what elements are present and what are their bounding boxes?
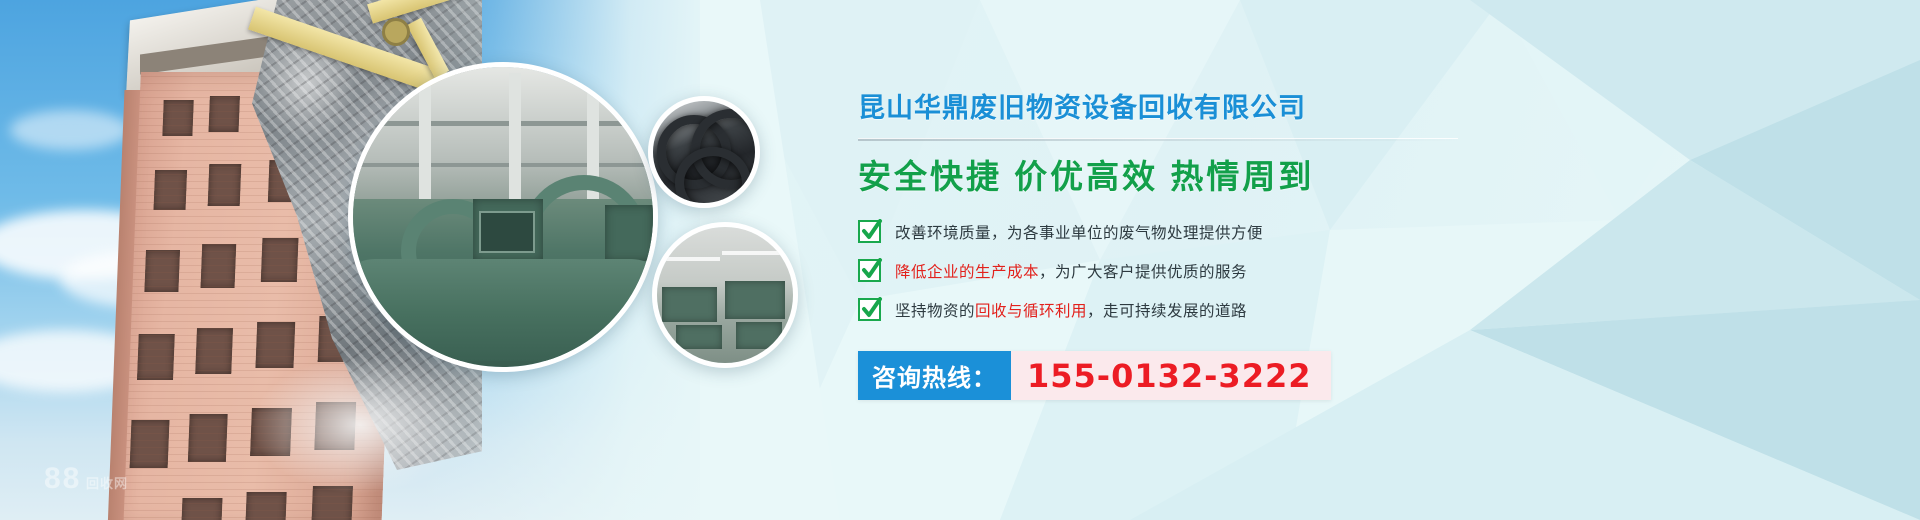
text-lead: 改善环境质量，为各事业单位的废气物处理提供方便 bbox=[895, 225, 1263, 242]
watermark: 88 回收网 bbox=[44, 462, 128, 496]
list-item-text: 改善环境质量，为各事业单位的废气物处理提供方便 bbox=[895, 221, 1263, 243]
check-icon bbox=[858, 220, 881, 243]
list-item-text: 坚持物资的回收与循环利用，走可持续发展的道路 bbox=[895, 299, 1247, 321]
feature-list: 改善环境质量，为各事业单位的废气物处理提供方便 降低企业的生产成本，为广大客户提… bbox=[858, 220, 1558, 321]
circle-image-workshop bbox=[652, 222, 798, 368]
text-highlight: 降低企业的生产成本 bbox=[895, 264, 1039, 281]
check-icon bbox=[858, 259, 881, 282]
text-tail: ，为广大客户提供优质的服务 bbox=[1039, 264, 1247, 281]
list-item: 改善环境质量，为各事业单位的废气物处理提供方便 bbox=[858, 220, 1558, 243]
hotline-number[interactable]: 155-0132-3222 bbox=[1011, 351, 1331, 400]
list-item-text: 降低企业的生产成本，为广大客户提供优质的服务 bbox=[895, 260, 1247, 282]
list-item: 坚持物资的回收与循环利用，走可持续发展的道路 bbox=[858, 298, 1558, 321]
circle-image-steel-coils bbox=[648, 96, 760, 208]
cloud bbox=[10, 110, 130, 150]
hotline-label: 咨询热线： bbox=[858, 351, 1011, 400]
steel-coils bbox=[653, 101, 755, 203]
list-item: 降低企业的生产成本，为广大客户提供优质的服务 bbox=[858, 259, 1558, 282]
check-icon bbox=[858, 298, 881, 321]
circle-image-chiller bbox=[348, 62, 658, 372]
company-name: 昆山华鼎废旧物资设备回收有限公司 bbox=[858, 86, 1558, 125]
factory-workshop bbox=[657, 227, 793, 363]
hotline-bar[interactable]: 咨询热线： 155-0132-3222 bbox=[858, 351, 1331, 400]
text-tail: ，走可持续发展的道路 bbox=[1087, 303, 1247, 320]
chiller-machine bbox=[353, 67, 653, 367]
text-lead: 坚持物资的 bbox=[895, 303, 975, 320]
excavator-pivot bbox=[382, 18, 410, 46]
promo-banner: 88 回收网 bbox=[0, 0, 1920, 520]
text-highlight: 回收与循环利用 bbox=[975, 303, 1087, 320]
slogan: 安全快捷 价优高效 热情周到 bbox=[858, 150, 1558, 198]
divider bbox=[858, 138, 1458, 141]
content-block: 昆山华鼎废旧物资设备回收有限公司 安全快捷 价优高效 热情周到 改善环境质量，为… bbox=[858, 86, 1558, 400]
